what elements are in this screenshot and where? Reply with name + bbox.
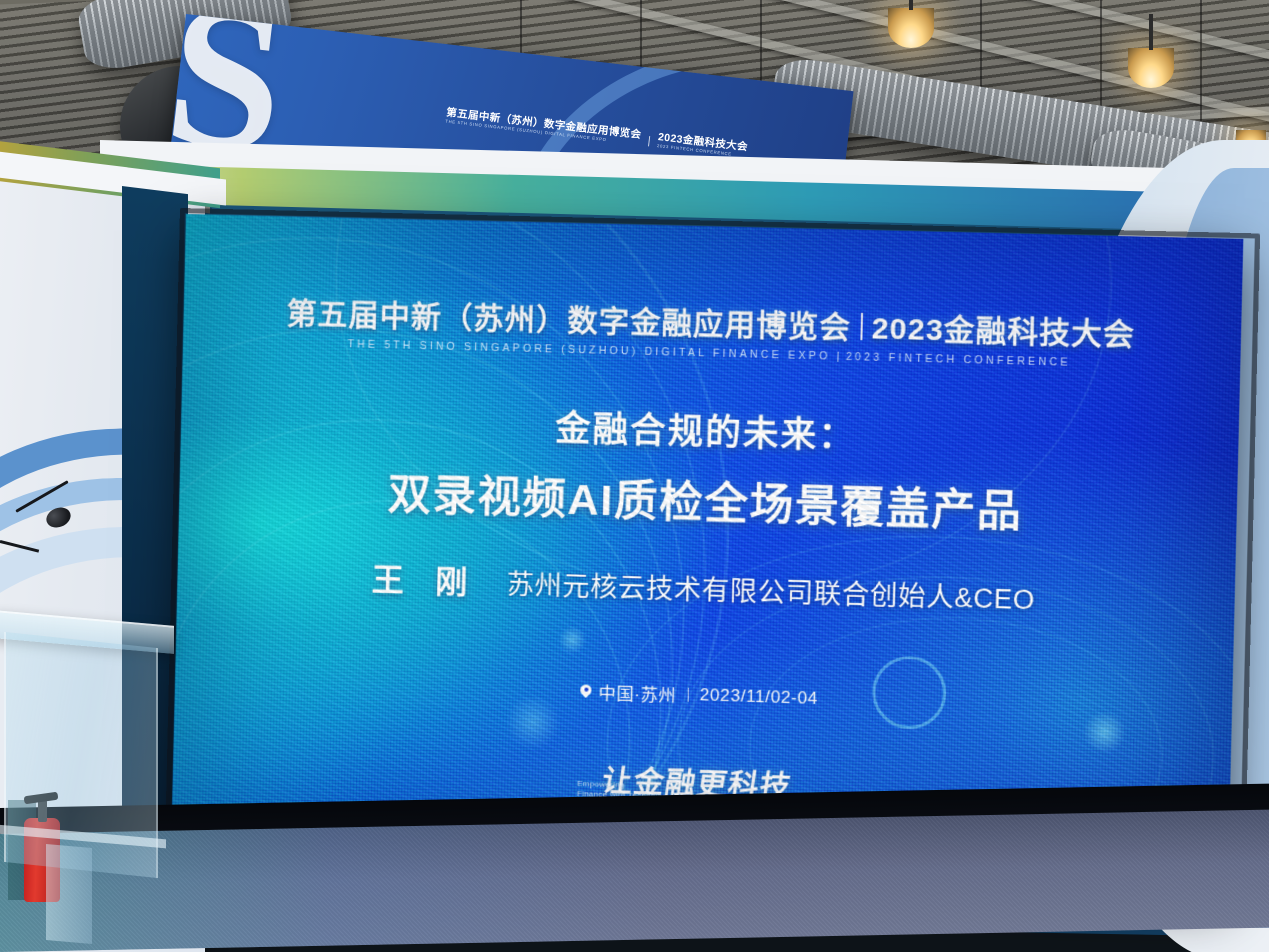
presentation-topic: 金融合规的未来： 双录视频AI质检全场景覆盖产品	[179, 390, 1239, 546]
map-pin-icon	[580, 684, 591, 698]
floor-carpet-texture	[0, 810, 1269, 952]
conference-stage-photo: S 第五届中新（苏州）数字金融应用博览会 THE 5TH SINO SINGAP…	[0, 0, 1269, 952]
slide-header: 第五届中新（苏州）数字金融应用博览会 2023金融科技大会 THE 5TH SI…	[183, 286, 1242, 373]
header-title-cn-right: 2023金融科技大会	[871, 303, 1136, 354]
pendant-lamp	[1128, 48, 1174, 88]
venue-divider	[687, 687, 688, 701]
topic-line-2: 双录视频AI质检全场景覆盖产品	[179, 454, 1238, 546]
venue-date-block: 中国·苏州 2023/11/02-04	[175, 666, 1233, 724]
stage-floor	[0, 810, 1269, 952]
venue-location: 中国·苏州	[598, 679, 676, 707]
header-divider	[860, 313, 863, 340]
speaker-name: 王 刚	[371, 555, 479, 604]
venue-dates: 2023/11/02-04	[700, 685, 819, 709]
speaker-title: 苏州元核云技术有限公司联合创始人&CEO	[506, 562, 1035, 617]
acrylic-podium	[0, 600, 172, 930]
header-en-divider	[838, 352, 839, 362]
podium-leg	[46, 844, 92, 944]
banner-divider: |	[645, 135, 653, 148]
pendant-lamp	[888, 8, 934, 48]
header-title-en-right: 2023 FINTECH CONFERENCE	[846, 351, 1071, 369]
speaker-block: 王 刚 苏州元核云技术有限公司联合创始人&CEO	[177, 549, 1235, 627]
